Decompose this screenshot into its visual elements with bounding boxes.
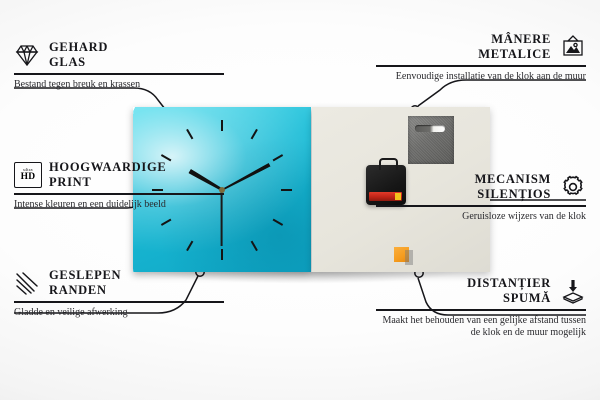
callout-rule [376,65,586,67]
callout-description: Eenvoudige installatie van de klok aan d… [376,71,586,84]
callout-description: Gladde en veilige afwerking [14,307,224,320]
infographic-canvas: GEHARDGLAS Bestand tegen breuk en krasse… [0,0,600,400]
callout-gehard-glas: GEHARDGLAS Bestand tegen breuk en krasse… [14,40,224,91]
picture-frame-icon [560,34,586,60]
callout-title: MÂNEREMETALICE [478,32,551,62]
callout-title: GEHARDGLAS [49,40,108,70]
hanger-keyhole-slot [415,125,445,132]
ultra-hd-icon: ultra HD [14,162,40,188]
foam-spacer [394,247,409,262]
diamond-icon [14,42,40,68]
callout-title: HOOGWAARDIGEPRINT [49,160,166,190]
callout-rule [14,301,224,303]
callout-distantier-spuma: DISTANȚIERSPUMĂ Maakt het behouden van e… [376,276,586,340]
callout-rule [14,193,224,195]
clock-tick [222,189,292,191]
callout-hoogwaardige-print: ultra HD HOOGWAARDIGEPRINT Intense kleur… [14,160,224,211]
callout-description: Bestand tegen breuk en krassen [14,79,224,92]
callout-rule [376,309,586,311]
mechanism-hanging-loop [379,158,398,170]
callout-title: GESLEPENRANDEN [49,268,121,298]
press-down-pad-icon [560,278,586,304]
callout-title: DISTANȚIERSPUMĂ [467,276,551,306]
callout-rule [14,73,224,75]
callout-description: Maakt het behouden van een gelijke afsta… [376,315,586,340]
diagonal-lines-icon [14,270,40,296]
callout-manere-metalice: MÂNEREMETALICE Eenvoudige installatie va… [376,32,586,83]
ultra-hd-large-text: HD [21,173,36,183]
callout-description: Intense kleuren en een duidelijk beeld [14,199,224,212]
gear-icon [560,174,586,200]
callout-description: Geruisloze wijzers van de klok [376,211,586,224]
callout-mecanism-silentios: MECANISMSILENȚIOS Geruisloze wijzers van… [376,172,586,223]
callout-title: MECANISMSILENȚIOS [475,172,551,202]
metal-hanger-plate [408,116,454,164]
callout-geslepen-randen: GESLEPENRANDEN Gladde en veilige afwerki… [14,268,224,319]
callout-rule [376,205,586,207]
